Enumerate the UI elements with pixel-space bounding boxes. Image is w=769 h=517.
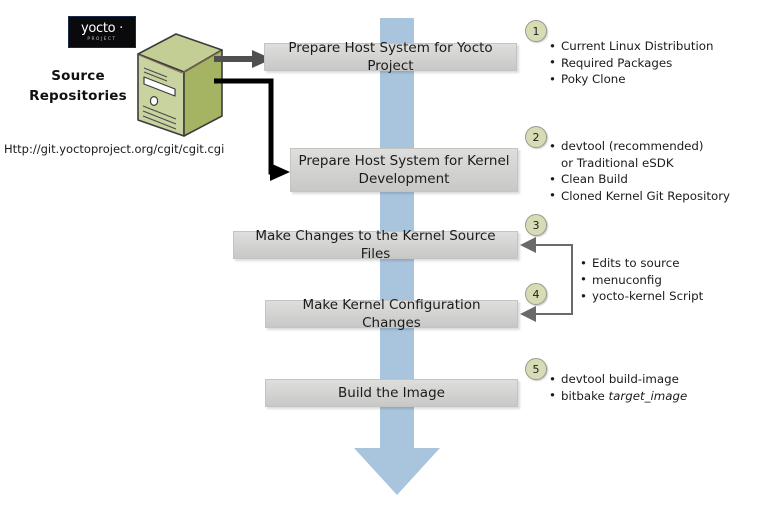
list-item: devtool build-image bbox=[549, 371, 764, 388]
list-item: Required Packages bbox=[549, 55, 764, 72]
list-item: Poky Clone bbox=[549, 71, 764, 88]
source-repositories-line2: Repositories bbox=[18, 86, 138, 106]
bitbake-command-prefix: bitbake bbox=[561, 389, 609, 403]
source-repositories-line1: Source bbox=[18, 66, 138, 86]
step-number-4: 4 bbox=[525, 283, 547, 305]
list-item: devtool (recommended) or Traditional eSD… bbox=[549, 138, 713, 171]
step-box-2[interactable]: Prepare Host System for Kernel Developme… bbox=[290, 148, 518, 192]
connector-bracket-step3-step4 bbox=[516, 234, 580, 324]
list-item: Current Linux Distribution bbox=[549, 38, 764, 55]
list-item: Edits to source bbox=[580, 255, 760, 272]
diagram-canvas: yocto · PROJECT Source Repositories Http… bbox=[0, 0, 769, 517]
step-5-bullet-list: devtool build-image bitbake target_image bbox=[549, 371, 764, 404]
yocto-logo-wordmark: yocto · bbox=[81, 22, 123, 35]
step-box-3[interactable]: Make Changes to the Kernel Source Files bbox=[233, 231, 518, 259]
source-repositories-label: Source Repositories bbox=[18, 66, 138, 106]
yocto-logo-subtext: PROJECT bbox=[87, 36, 116, 42]
step-box-1[interactable]: Prepare Host System for Yocto Project bbox=[264, 43, 517, 71]
step-number-3: 3 bbox=[525, 214, 547, 236]
step-number-2: 2 bbox=[525, 126, 547, 148]
step-1-bullet-list: Current Linux Distribution Required Pack… bbox=[549, 38, 764, 88]
step-box-5[interactable]: Build the Image bbox=[265, 379, 518, 407]
server-icon bbox=[134, 32, 226, 140]
step-box-4[interactable]: Make Kernel Configuration Changes bbox=[265, 300, 518, 328]
step-number-5: 5 bbox=[525, 358, 547, 380]
process-flow-arrow bbox=[340, 18, 460, 508]
step-number-1: 1 bbox=[525, 20, 547, 42]
list-item: yocto-kernel Script bbox=[580, 288, 760, 305]
source-repositories-url: Http://git.yoctoproject.org/cgit/cgit.cg… bbox=[4, 142, 224, 156]
list-item: Clean Build bbox=[549, 171, 764, 188]
step-3-4-bullet-list: Edits to source menuconfig yocto-kernel … bbox=[580, 255, 760, 305]
step-2-bullet-list: devtool (recommended) or Traditional eSD… bbox=[549, 138, 764, 204]
bitbake-target-image-param: target_image bbox=[609, 389, 688, 403]
list-item: Cloned Kernel Git Repository bbox=[549, 188, 764, 205]
list-item: menuconfig bbox=[580, 272, 760, 289]
list-item: bitbake target_image bbox=[549, 388, 764, 405]
connector-server-to-step2 bbox=[214, 76, 292, 180]
yocto-project-logo: yocto · PROJECT bbox=[68, 16, 136, 48]
